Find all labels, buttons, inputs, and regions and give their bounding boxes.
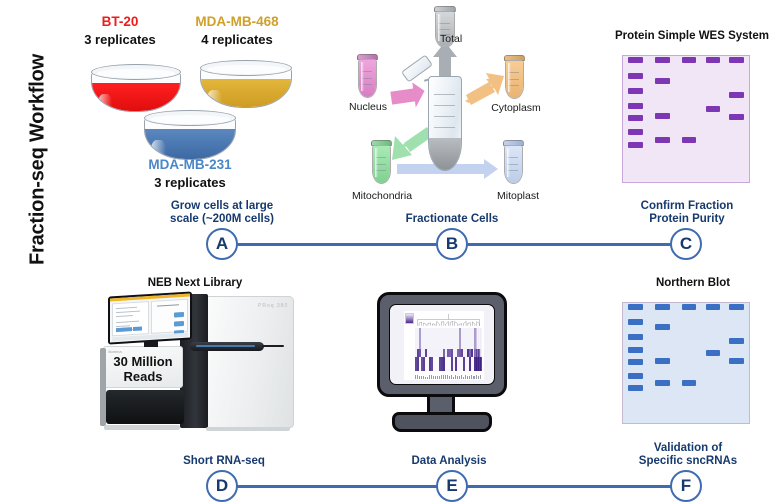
gel-band [655, 324, 669, 330]
sequencer-reads-line1: 30 Million [102, 354, 184, 369]
heatmap-axis-labels [415, 374, 482, 379]
heatmap-cell [480, 357, 482, 371]
heatmap-axis-tick [453, 377, 454, 380]
tube-label-total: Total [440, 33, 496, 45]
gel-band [628, 319, 642, 325]
heatmap-axis-tick [449, 376, 450, 379]
heatmap-grid [415, 328, 482, 374]
gel-band [628, 73, 642, 79]
gel-band [628, 304, 642, 310]
gel-band [628, 347, 642, 353]
sequencer-monitor-arm [144, 341, 158, 347]
northern-blot-image [622, 302, 750, 424]
step-d-label-line1: Short RNA-seq [165, 455, 283, 468]
gel-band [628, 142, 642, 148]
dendrogram [415, 312, 482, 326]
gel-band [682, 304, 696, 310]
tube-label-mitochondria: Mitochondria [345, 190, 419, 202]
heatmap-axis-tick [447, 375, 448, 380]
heatmap-axis-tick [433, 376, 434, 379]
heatmap-axis-tick [476, 375, 477, 380]
gel-band [729, 57, 743, 63]
heatmap-axis-tick [425, 377, 426, 380]
sequencer-monitor[interactable] [108, 291, 192, 344]
sequencer-foot-left [104, 425, 180, 430]
wes-panel-title: Protein Simple WES System [608, 30, 776, 42]
tube-mitoplast [503, 140, 524, 184]
heatmap-legend [405, 313, 415, 324]
gel-band [628, 385, 642, 391]
tube-nucleus [357, 54, 378, 98]
gel-band [682, 57, 696, 63]
step-a-label-line1: Grow cells at large [160, 200, 284, 213]
timeline-node-f-letter: F [681, 476, 691, 496]
tube-label-mitoplast: Mitoplast [486, 190, 550, 202]
tube-cytoplasm [504, 55, 525, 99]
sequencer-handle-tip [262, 345, 284, 347]
sequencer-foot-right [206, 427, 290, 431]
wes-gel-image [622, 55, 750, 183]
heatmap-axis-tick [443, 375, 444, 379]
heatmap-axis-tick [417, 375, 418, 380]
heatmap-axis-tick [463, 377, 464, 380]
heatmap-axis-tick [480, 375, 481, 380]
timeline-node-e-letter: E [446, 476, 457, 496]
heatmap-axis-tick [421, 376, 422, 379]
sequencer-right-panel [204, 296, 294, 428]
arrow-mitochondria [392, 127, 433, 160]
northern-panel-title: Northern Blot [630, 277, 756, 289]
timeline-node-d[interactable]: D [206, 470, 238, 502]
gel-band [682, 380, 696, 386]
gel-band [628, 88, 642, 94]
heatmap-cell [480, 328, 482, 349]
heatmap-axis-tick [467, 376, 468, 379]
gel-band [628, 115, 642, 121]
step-e-label-line1: Data Analysis [390, 455, 508, 468]
sequencer-reads-label: 30 Million Reads [102, 354, 184, 384]
timeline-node-d-letter: D [216, 476, 228, 496]
sequencer-screen [110, 294, 190, 343]
timeline-node-a[interactable]: A [206, 228, 238, 260]
gel-band [628, 103, 642, 109]
heatmap-axis-tick [419, 376, 420, 379]
heatmap-axis-tick [445, 375, 446, 380]
heatmap-axis-tick [441, 375, 442, 379]
heatmap-axis-tick [451, 375, 452, 379]
heatmap-axis-tick [469, 376, 470, 379]
heatmap-axis-tick [437, 376, 438, 379]
gel-band [729, 358, 743, 364]
heatmap-axis-tick [455, 375, 456, 379]
step-f-label-line2: Specific sncRNAs [620, 455, 756, 468]
heatmap-axis-tick [473, 376, 474, 380]
heatmap-axis-tick [431, 375, 432, 379]
gel-band [706, 304, 720, 310]
sequencer-panel-title: NEB Next Library [110, 277, 280, 289]
step-b-label: Fractionate Cells [390, 213, 514, 226]
sequencer-handle[interactable] [190, 342, 264, 351]
heatmap-axis-tick [478, 376, 479, 379]
timeline-node-a-letter: A [216, 234, 228, 254]
gel-band [729, 338, 743, 344]
step-e-label: Data Analysis [390, 455, 508, 468]
gel-band [729, 114, 743, 120]
step-c-label-line1: Confirm Fraction [620, 200, 754, 213]
gel-band [682, 137, 696, 143]
timeline-node-b-letter: B [446, 234, 458, 254]
step-c-label: Confirm Fraction Protein Purity [620, 200, 754, 226]
gel-band [706, 106, 720, 112]
sequencer-reads-line2: Reads [102, 369, 184, 384]
gel-band [628, 129, 642, 135]
step-a-label: Grow cells at large scale (~200M cells) [160, 200, 284, 226]
tube-mitochondria [371, 140, 392, 184]
heatmap-axis-tick [435, 376, 436, 380]
timeline-node-c[interactable]: C [670, 228, 702, 260]
tube-label-cytoplasm: Cytoplasm [486, 102, 546, 114]
gel-band [628, 334, 642, 340]
gel-band [628, 359, 642, 365]
heatmap-axis-tick [465, 375, 466, 379]
sequencer-drawer[interactable] [106, 390, 184, 424]
gel-band [655, 304, 669, 310]
heatmap-axis-tick [474, 376, 475, 380]
heatmap-axis-tick [427, 377, 428, 380]
gel-band [706, 350, 720, 356]
step-c-label-line2: Protein Purity [620, 213, 754, 226]
tube-label-nucleus: Nucleus [338, 101, 398, 113]
heatmap-cell [480, 349, 482, 357]
sequencer-left-edge [100, 348, 106, 426]
gel-band [628, 57, 642, 63]
heatmap-axis-tick [439, 376, 440, 379]
tube-central-sample [428, 76, 462, 171]
step-f-label: Validation of Specific sncRNAs [620, 442, 756, 468]
step-a-label-line2: scale (~200M cells) [160, 213, 284, 226]
timeline-node-b[interactable]: B [436, 228, 468, 260]
heatmap-figure [404, 311, 484, 380]
timeline-node-f[interactable]: F [670, 470, 702, 502]
step-d-label: Short RNA-seq [165, 455, 283, 468]
heatmap-axis-tick [457, 376, 458, 379]
heatmap-axis-tick [459, 376, 460, 379]
monitor-base [392, 412, 492, 432]
gel-band [655, 113, 669, 119]
gel-band [655, 57, 669, 63]
gel-band [655, 137, 669, 143]
gel-band [729, 92, 743, 98]
heatmap-axis-tick [423, 376, 424, 379]
gel-band [706, 57, 720, 63]
heatmap-axis-tick [429, 375, 430, 379]
step-f-label-line1: Validation of [620, 442, 756, 455]
monitor-screen[interactable] [389, 304, 495, 385]
gel-band [655, 380, 669, 386]
gel-band [655, 358, 669, 364]
gel-band [729, 304, 743, 310]
gel-band [628, 373, 642, 379]
monitor-frame [377, 292, 507, 397]
step-b-label-line1: Fractionate Cells [390, 213, 514, 226]
heatmap-axis-tick [461, 375, 462, 379]
timeline-node-c-letter: C [680, 234, 692, 254]
arrow-cytoplasm [465, 73, 504, 105]
timeline-node-e[interactable]: E [436, 470, 468, 502]
heatmap-axis-tick [415, 375, 416, 380]
sequencer-brand-label: PRoq 380 [258, 303, 288, 309]
gel-band [655, 78, 669, 84]
heatmap-axis-tick [471, 375, 472, 379]
